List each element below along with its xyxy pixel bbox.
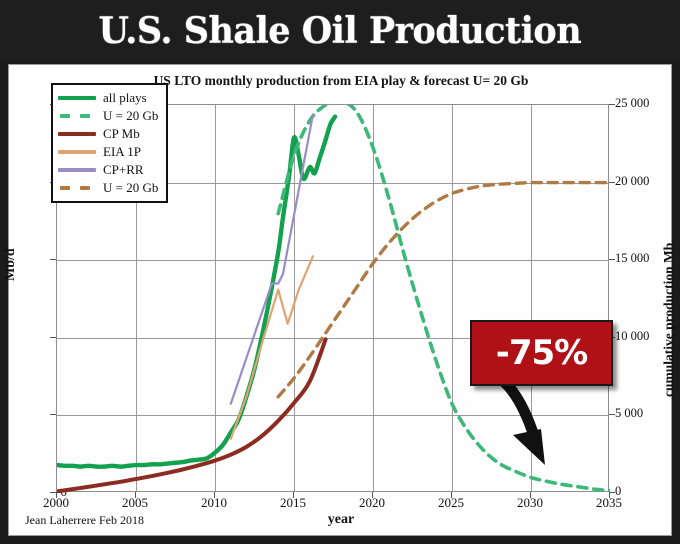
y-axis-right-tick-label: 25 000 xyxy=(615,96,675,111)
legend-item[interactable]: CP+RR xyxy=(58,161,158,179)
legend-item[interactable]: CP Mb xyxy=(58,125,158,143)
chart-legend: all playsU = 20 GbCP MbEIA 1PCP+RRU = 20… xyxy=(51,83,168,203)
legend-item[interactable]: U = 20 Gb xyxy=(58,179,158,197)
legend-swatch-icon xyxy=(58,92,96,104)
legend-item-label: U = 20 Gb xyxy=(103,108,158,124)
legend-item-label: U = 20 Gb xyxy=(103,180,158,196)
chart-credit: Jean Laherrere Feb 2018 xyxy=(25,513,144,528)
legend-swatch-icon xyxy=(58,110,96,122)
chart-panel: US LTO monthly production from EIA play … xyxy=(8,64,672,536)
legend-item[interactable]: EIA 1P xyxy=(58,143,158,161)
legend-swatch-icon xyxy=(58,146,96,158)
legend-swatch-icon xyxy=(58,182,96,194)
page-title: U.S. Shale Oil Production xyxy=(99,10,582,52)
header-band: U.S. Shale Oil Production xyxy=(0,0,680,62)
legend-swatch-icon xyxy=(58,128,96,140)
y-axis-right-tick-label: 15 000 xyxy=(615,251,675,266)
annotation-badge: -75% xyxy=(470,320,613,386)
screenshot-root: U.S. Shale Oil Production US LTO monthly… xyxy=(0,0,680,544)
legend-item-label: CP+RR xyxy=(103,162,144,178)
series-line xyxy=(278,105,610,491)
y-axis-right-tick-label: 20 000 xyxy=(615,174,675,189)
legend-item-label: EIA 1P xyxy=(103,144,141,160)
legend-item-label: CP Mb xyxy=(103,126,140,142)
legend-swatch-icon xyxy=(58,164,96,176)
y-axis-right-tick-label: 10 000 xyxy=(615,329,675,344)
legend-item[interactable]: U = 20 Gb xyxy=(58,107,158,125)
annotation-label: -75% xyxy=(496,333,588,373)
legend-item-label: all plays xyxy=(103,90,147,106)
y-axis-right-tick-label: 5 000 xyxy=(615,406,675,421)
legend-item[interactable]: all plays xyxy=(58,89,158,107)
y-axis-left-label: Mb/d xyxy=(3,248,19,281)
